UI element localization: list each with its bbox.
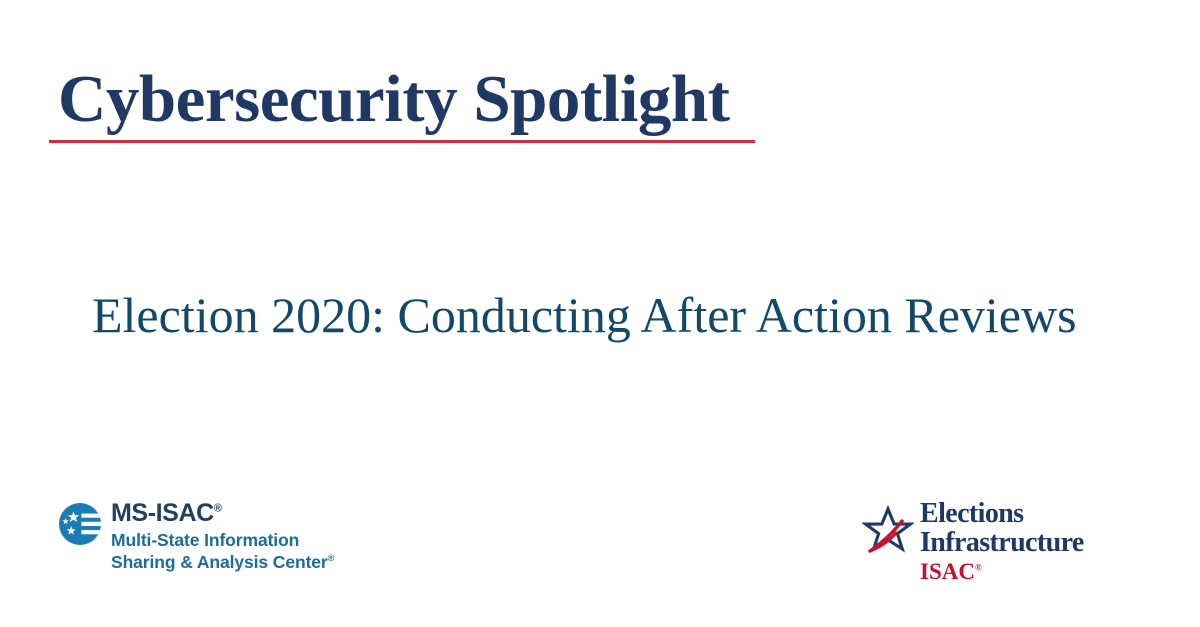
ms-isac-globe-icon — [58, 502, 102, 546]
ms-isac-logo: MS-ISAC® Multi-State InformationSharing … — [58, 500, 334, 573]
ms-isac-tagline-line1: Multi-State Information — [111, 530, 299, 550]
ei-isac-wordmark: Elections Infrastructure ISAC® — [920, 500, 1084, 583]
ei-isac-star-swoosh-icon — [862, 504, 914, 556]
ei-isac-line-elections: Elections — [920, 500, 1084, 528]
slide-subtitle: Election 2020: Conducting After Action R… — [92, 288, 1077, 343]
ms-isac-tagline-line2: Sharing & Analysis Center — [111, 552, 328, 572]
slide-canvas: Cybersecurity Spotlight Election 2020: C… — [0, 0, 1200, 627]
ei-isac-registered-mark: ® — [975, 562, 982, 572]
page-title: Cybersecurity Spotlight — [49, 64, 755, 143]
ms-isac-tagline-registered-mark: ® — [328, 553, 335, 563]
page-title-text: Cybersecurity Spotlight — [49, 64, 755, 143]
ms-isac-tagline: Multi-State InformationSharing & Analysi… — [111, 530, 334, 573]
ei-isac-line-isac: ISAC® — [920, 560, 1084, 583]
ei-isac-line-infrastructure: Infrastructure — [920, 529, 1084, 557]
ei-isac-isac-text: ISAC — [920, 559, 975, 584]
ei-isac-logo: Elections Infrastructure ISAC® — [862, 500, 1084, 583]
ms-isac-name-text: MS-ISAC — [111, 499, 214, 527]
ms-isac-registered-mark: ® — [214, 503, 222, 515]
ms-isac-name: MS-ISAC® — [111, 500, 334, 526]
ms-isac-wordmark: MS-ISAC® Multi-State InformationSharing … — [111, 500, 334, 573]
